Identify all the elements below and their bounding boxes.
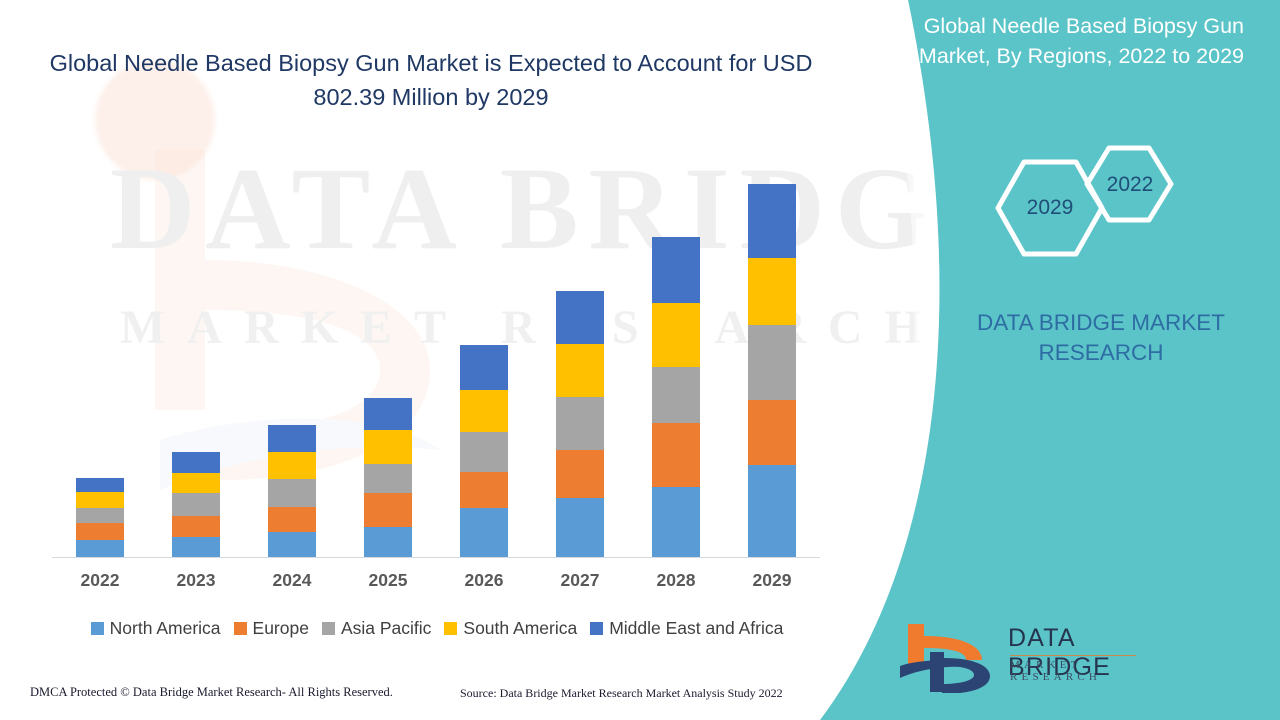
legend-item-north-america[interactable]: North America xyxy=(91,618,221,639)
bar-column-2029 xyxy=(724,150,820,557)
bar-segment-europe xyxy=(748,400,796,465)
bar-column-2022 xyxy=(52,150,148,557)
bar-segment-asia-pacific xyxy=(748,325,796,400)
brand-line-1: DATA BRIDGE MARKET xyxy=(956,308,1246,338)
bar-segment-middle-east-and-africa xyxy=(268,425,316,452)
right-panel-title: Global Needle Based Biopsy Gun Market, B… xyxy=(914,12,1244,71)
bar-segment-north-america xyxy=(556,498,604,557)
bar-segment-middle-east-and-africa xyxy=(364,398,412,430)
stacked-bar-chart xyxy=(52,150,820,557)
right-panel-brand: DATA BRIDGE MARKET RESEARCH xyxy=(956,308,1246,369)
bar-segment-south-america xyxy=(268,452,316,479)
bar-segment-middle-east-and-africa xyxy=(76,478,124,492)
stacked-bar[interactable] xyxy=(172,452,220,557)
brand-line-2: RESEARCH xyxy=(956,338,1246,368)
footer-copyright: DMCA Protected © Data Bridge Market Rese… xyxy=(30,685,393,700)
hexagon-badges: 2022 2029 xyxy=(988,140,1188,290)
bar-segment-south-america xyxy=(460,390,508,432)
bar-segment-europe xyxy=(364,493,412,527)
x-tick-2024: 2024 xyxy=(244,565,340,595)
bar-segment-asia-pacific xyxy=(556,397,604,450)
legend-item-middle-east-and-africa[interactable]: Middle East and Africa xyxy=(590,618,783,639)
stacked-bar[interactable] xyxy=(748,184,796,557)
logo-tagline: MARKET RESEARCH xyxy=(1010,659,1140,683)
legend-swatch-icon xyxy=(322,622,335,635)
bar-segment-middle-east-and-africa xyxy=(172,452,220,473)
bar-segment-asia-pacific xyxy=(364,464,412,493)
logo-divider xyxy=(1010,655,1136,656)
legend-item-asia-pacific[interactable]: Asia Pacific xyxy=(322,618,431,639)
bar-segment-middle-east-and-africa xyxy=(556,291,604,344)
bar-segment-north-america xyxy=(268,532,316,557)
x-tick-2025: 2025 xyxy=(340,565,436,595)
legend-label: North America xyxy=(110,618,221,639)
legend-label: Europe xyxy=(253,618,309,639)
bar-segment-europe xyxy=(460,472,508,508)
x-tick-2027: 2027 xyxy=(532,565,628,595)
bar-column-2023 xyxy=(148,150,244,557)
bar-segment-south-america xyxy=(364,430,412,464)
legend-swatch-icon xyxy=(590,622,603,635)
hexagon-outline-icon xyxy=(988,140,1188,290)
infographic-root: DATA BRIDGE MARKET RESEARCH Global Needl… xyxy=(0,0,1280,720)
bar-segment-asia-pacific xyxy=(76,508,124,523)
bar-segment-europe xyxy=(268,507,316,532)
bar-segment-middle-east-and-africa xyxy=(460,345,508,390)
legend-swatch-icon xyxy=(234,622,247,635)
bar-segment-south-america xyxy=(76,492,124,508)
bar-segment-north-america xyxy=(748,465,796,557)
bar-segment-north-america xyxy=(76,540,124,557)
page-title: Global Needle Based Biopsy Gun Market is… xyxy=(46,46,816,114)
bar-segment-europe xyxy=(556,450,604,498)
x-tick-2022: 2022 xyxy=(52,565,148,595)
x-tick-2026: 2026 xyxy=(436,565,532,595)
bar-segment-north-america xyxy=(172,537,220,557)
bar-segment-south-america xyxy=(748,258,796,325)
bar-segment-asia-pacific xyxy=(652,367,700,423)
bar-segment-europe xyxy=(652,423,700,487)
legend-swatch-icon xyxy=(444,622,457,635)
bar-segment-europe xyxy=(172,516,220,537)
stacked-bar[interactable] xyxy=(652,237,700,557)
legend-item-south-america[interactable]: South America xyxy=(444,618,577,639)
bar-segment-asia-pacific xyxy=(172,493,220,516)
chart-axis-line xyxy=(52,557,820,558)
x-tick-2028: 2028 xyxy=(628,565,724,595)
bar-segment-middle-east-and-africa xyxy=(652,237,700,303)
legend-label: South America xyxy=(463,618,577,639)
stacked-bar[interactable] xyxy=(460,345,508,557)
legend-label: Middle East and Africa xyxy=(609,618,783,639)
legend-item-europe[interactable]: Europe xyxy=(234,618,309,639)
legend-label: Asia Pacific xyxy=(341,618,431,639)
bar-segment-north-america xyxy=(460,508,508,557)
chart-x-axis: 20222023202420252026202720282029 xyxy=(52,565,820,595)
stacked-bar[interactable] xyxy=(364,398,412,557)
company-logo: DATA BRIDGE MARKET RESEARCH xyxy=(890,618,1140,693)
stacked-bar[interactable] xyxy=(268,425,316,557)
bar-column-2024 xyxy=(244,150,340,557)
footer-source: Source: Data Bridge Market Research Mark… xyxy=(460,686,783,701)
x-tick-2029: 2029 xyxy=(724,565,820,595)
bar-segment-middle-east-and-africa xyxy=(748,184,796,258)
bar-segment-asia-pacific xyxy=(460,432,508,472)
bar-column-2025 xyxy=(340,150,436,557)
bar-segment-asia-pacific xyxy=(268,479,316,507)
bar-column-2027 xyxy=(532,150,628,557)
stacked-bar[interactable] xyxy=(76,478,124,557)
bar-column-2028 xyxy=(628,150,724,557)
chart-legend: North AmericaEuropeAsia PacificSouth Ame… xyxy=(52,615,822,641)
bar-segment-south-america xyxy=(556,344,604,397)
hex-label-2022: 2022 xyxy=(1101,173,1159,197)
bar-segment-south-america xyxy=(172,473,220,493)
legend-swatch-icon xyxy=(91,622,104,635)
bar-column-2026 xyxy=(436,150,532,557)
bar-segment-europe xyxy=(76,523,124,540)
x-tick-2023: 2023 xyxy=(148,565,244,595)
bar-segment-north-america xyxy=(652,487,700,557)
hex-label-2029: 2029 xyxy=(1021,196,1079,220)
bar-segment-south-america xyxy=(652,303,700,367)
bar-segment-north-america xyxy=(364,527,412,557)
data-bridge-mark-icon xyxy=(890,618,1000,693)
stacked-bar[interactable] xyxy=(556,291,604,557)
